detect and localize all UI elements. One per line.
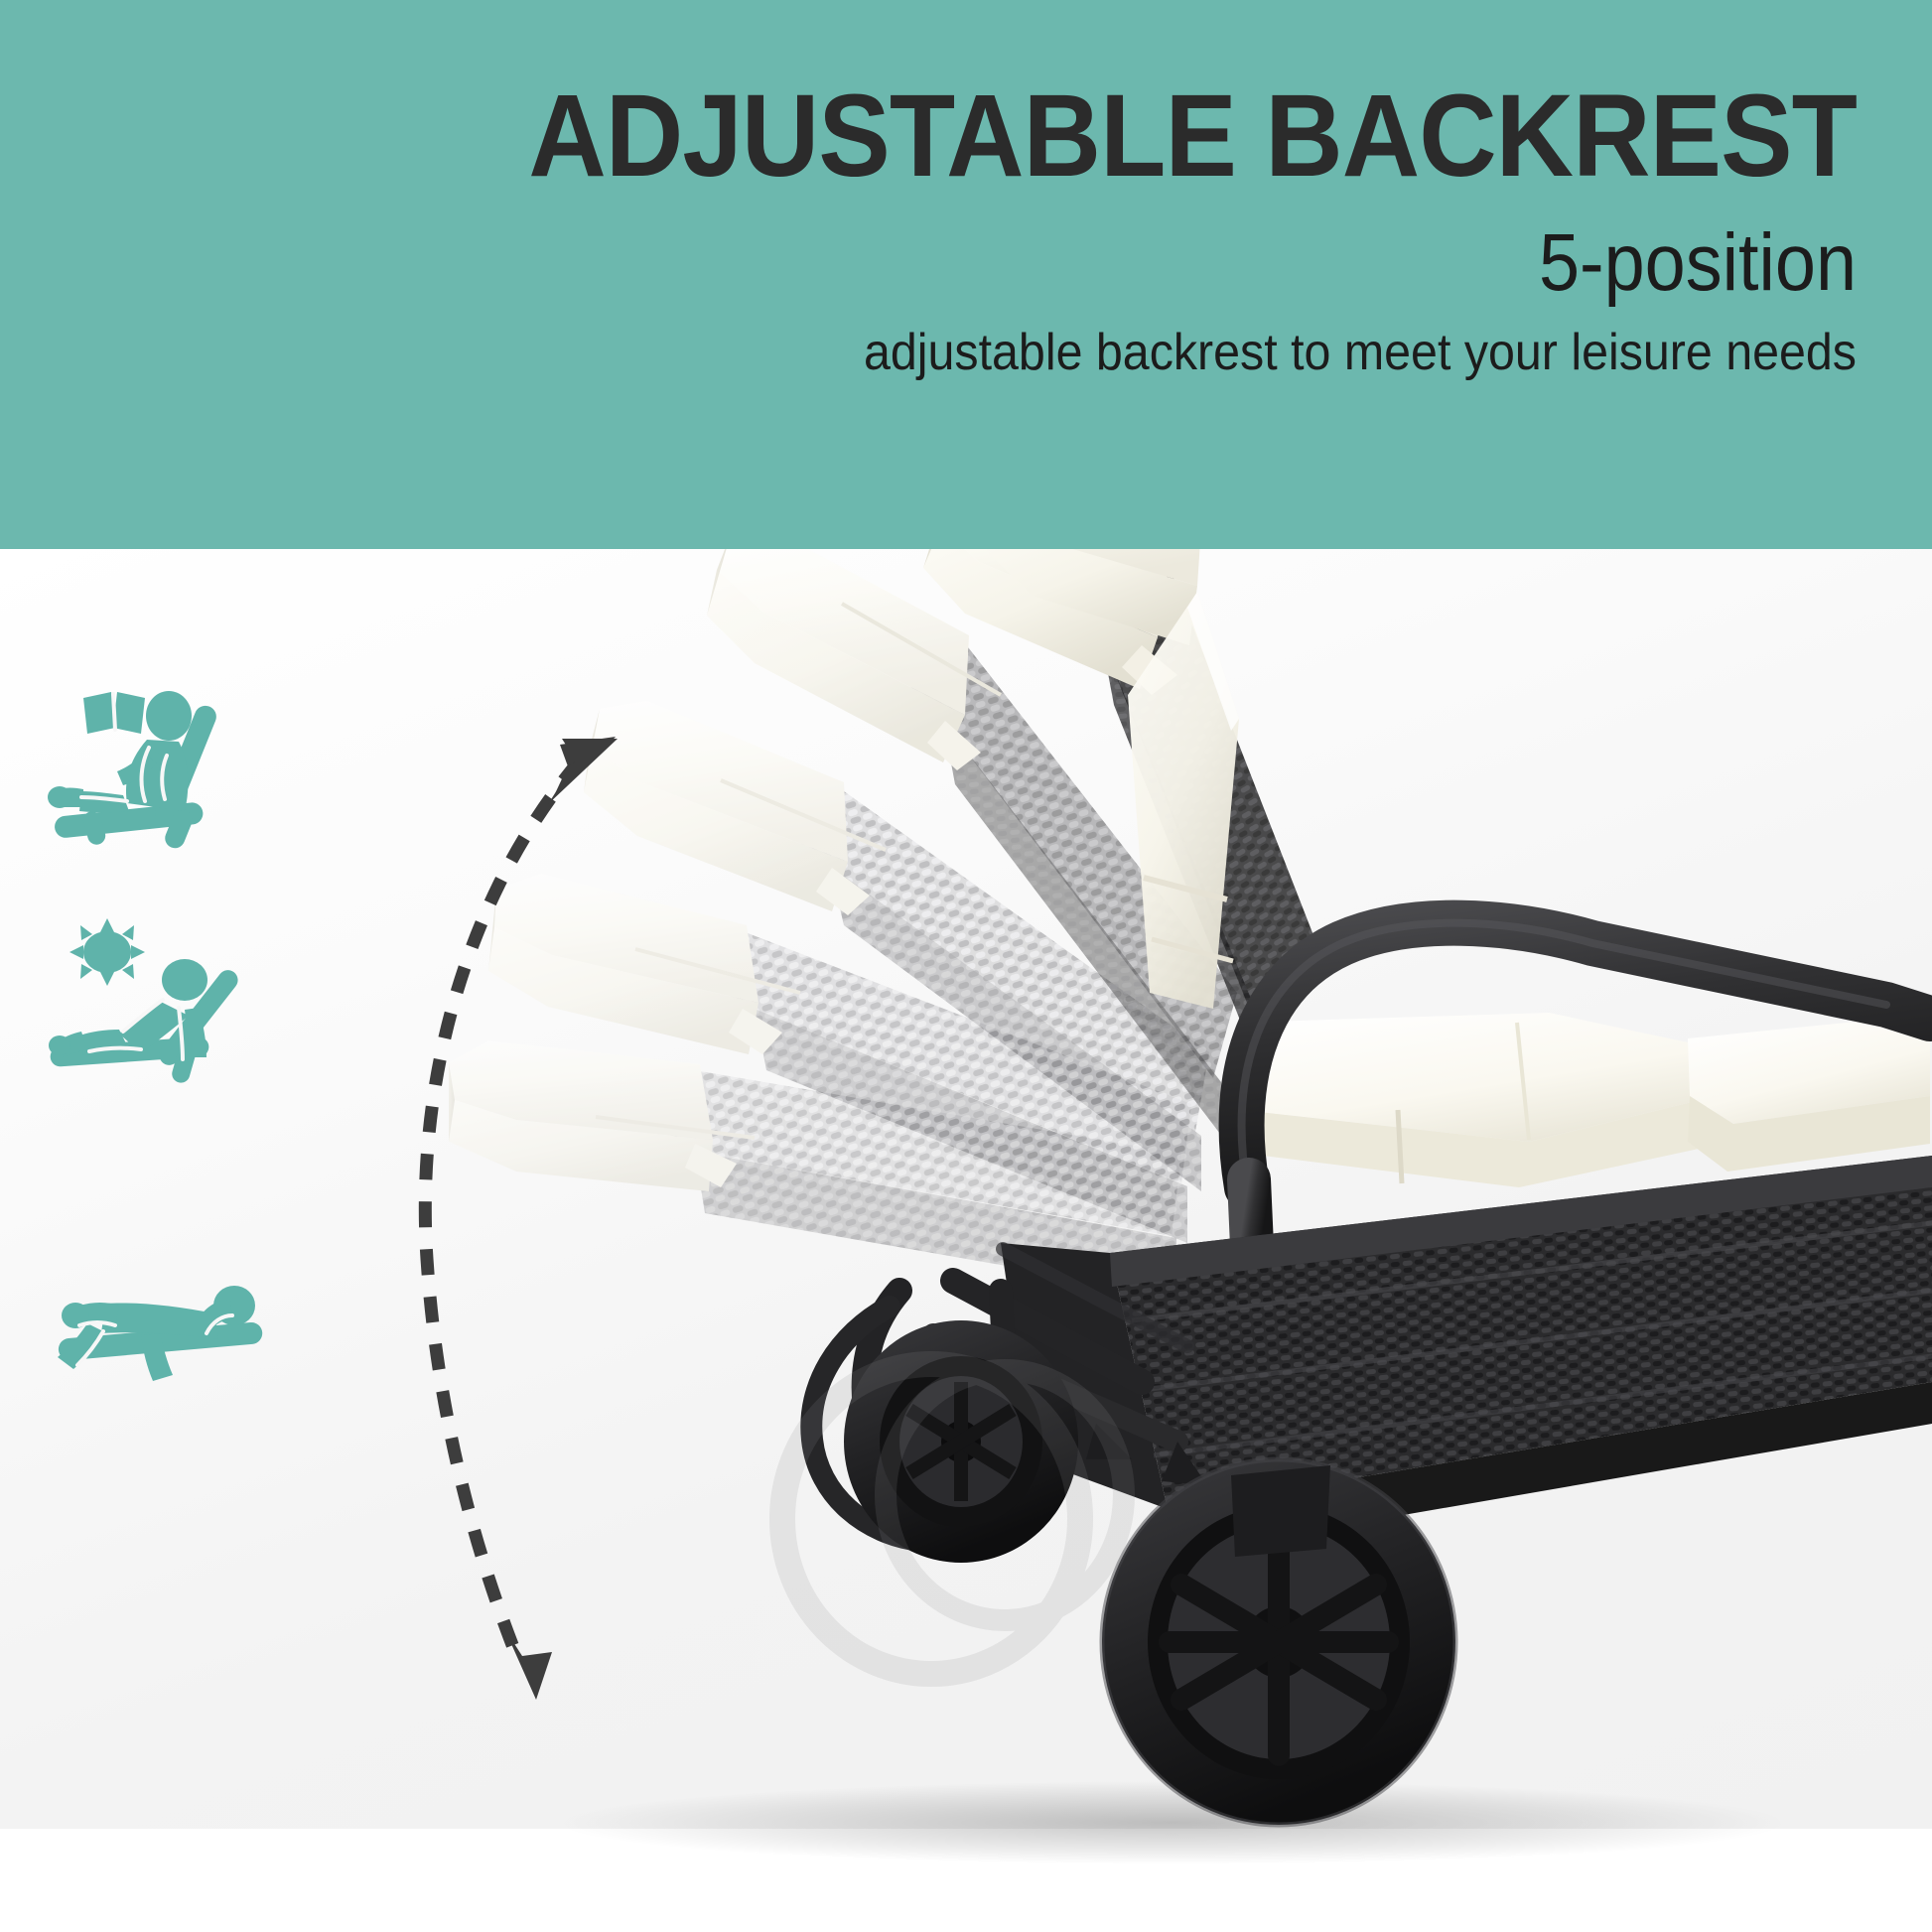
header-text-block: ADJUSTABLE BACKREST 5-position adjustabl… [308,77,1857,383]
header-band: ADJUSTABLE BACKREST 5-position adjustabl… [0,0,1932,549]
product-feature-banner: ADJUSTABLE BACKREST 5-position adjustabl… [0,0,1932,1932]
person-sunbathing-icon [50,916,268,1105]
person-reading-reclined-icon [50,680,268,869]
feature-description: adjustable backrest to meet your leisure… [416,324,1857,383]
sun-disc [83,931,131,973]
seat-cushion-far-edge [1688,1019,1930,1172]
usage-icon-column [0,549,328,1829]
page-title: ADJUSTABLE BACKREST [432,77,1857,195]
wheel-bracket [1231,1465,1330,1557]
feature-subtitle: 5-position [463,220,1857,306]
person-lying-flat-icon [50,1244,268,1433]
seat-cushion [1237,1013,1708,1187]
